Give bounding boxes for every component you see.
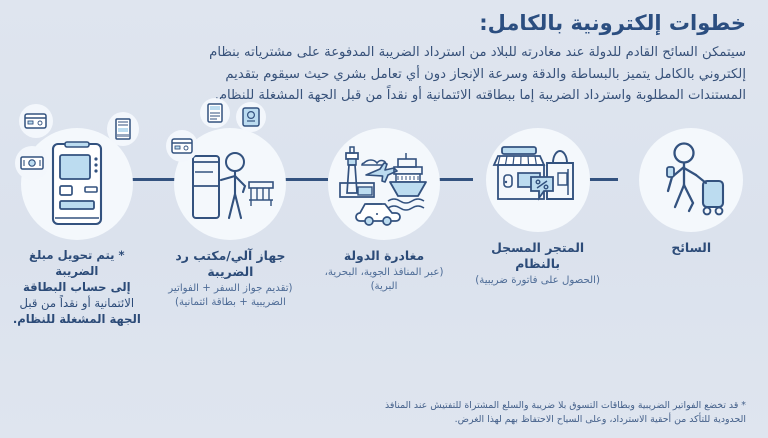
atm-machine-icon [41,140,113,228]
credit-card-icon [171,138,193,154]
tourist-caption: السائح [623,240,759,256]
kiosk-caption: جهاز آلي/مكتب رد الضريبة (تقديم جواز الس… [162,248,298,310]
step-registered-store: المتجر المسجل بالنظام (الحصول على فاتورة… [461,128,615,428]
traveler-with-suitcase-icon [648,137,734,223]
payout-note: * يتم تحويل مبلغ الضريبة إلى حساب البطاق… [9,248,145,328]
kiosk-with-officer-icon [183,142,277,226]
tax-invoice-icon [206,103,224,123]
atm-disc [21,128,133,240]
cash-banknote-icon [20,155,44,171]
intro-line-1: سيتمكن السائح القادم للدولة عند مغادرته … [209,45,746,60]
store-label: المتجر المسجل بالنظام [470,240,606,272]
passport-icon [242,107,260,127]
shop-and-shopping-bag-icon [492,139,584,221]
footnote-line-2: الحدودية للتأكد من أحقية الاسترداد، وعلى… [316,413,746,428]
store-caption: المتجر المسجل بالنظام (الحصول على فاتورة… [470,240,606,288]
cash-satellite [15,146,49,180]
step-refund-kiosk: جهاز آلي/مكتب رد الضريبة (تقديم جواز الس… [154,128,308,428]
credit-card-icon [24,113,47,129]
departure-disc [328,128,440,240]
receipt-icon [114,118,132,140]
payout-note-line-4: الجهة المشغلة للنظام. [13,312,141,326]
store-sublabel: (الحصول على فاتورة ضريبية) [470,274,606,288]
process-steps: السائح [0,128,768,428]
step-tourist: السائح [614,128,768,428]
tourist-label: السائح [623,240,759,256]
step-leaving-country: مغادرة الدولة (عبر المنافذ الجوية، البحر… [307,128,461,428]
invoice-satellite [200,98,230,128]
intro-line-2: إلكتروني بالكامل يتميز بالبساطة والدقة و… [225,67,746,82]
intro-paragraph: سيتمكن السائح القادم للدولة عند مغادرته … [22,42,746,106]
store-disc [486,128,590,232]
payout-note-line-3: الائتمانية أو نقداً من قبل [20,296,135,310]
payout-card-satellite [19,104,53,138]
passport-satellite [236,102,266,132]
payout-note-line-1: * يتم تحويل مبلغ الضريبة [29,248,125,278]
intro-line-3: المستندات المطلوبة واسترداد الضريبة إما … [215,88,746,103]
departure-sublabel: (عبر المنافذ الجوية، البحرية، البرية) [316,266,452,293]
infographic-poster: خطوات إلكترونية بالكامل: سيتمكن السائح ا… [0,0,768,438]
page-title: خطوات إلكترونية بالكامل: [22,10,746,36]
header: خطوات إلكترونية بالكامل: سيتمكن السائح ا… [0,0,768,106]
payout-caption: * يتم تحويل مبلغ الضريبة إلى حساب البطاق… [9,248,145,328]
kiosk-sublabel: (تقديم جواز السفر + الفواتير الضريبية + … [162,282,298,309]
payout-note-line-2: إلى حساب البطاقة [23,280,131,294]
departure-label: مغادرة الدولة [316,248,452,264]
step-refund-payout: * يتم تحويل مبلغ الضريبة إلى حساب البطاق… [0,128,154,428]
airport-ship-car-icon [336,141,432,227]
kiosk-label: جهاز آلي/مكتب رد الضريبة [162,248,298,280]
footnote-line-1: * قد تخضع الفواتير الضريبية وبطاقات التس… [316,399,746,414]
footnote: * قد تخضع الفواتير الضريبية وبطاقات التس… [316,399,746,428]
tourist-disc [639,128,743,232]
departure-caption: مغادرة الدولة (عبر المنافذ الجوية، البحر… [316,248,452,293]
receipt-satellite [107,112,139,146]
